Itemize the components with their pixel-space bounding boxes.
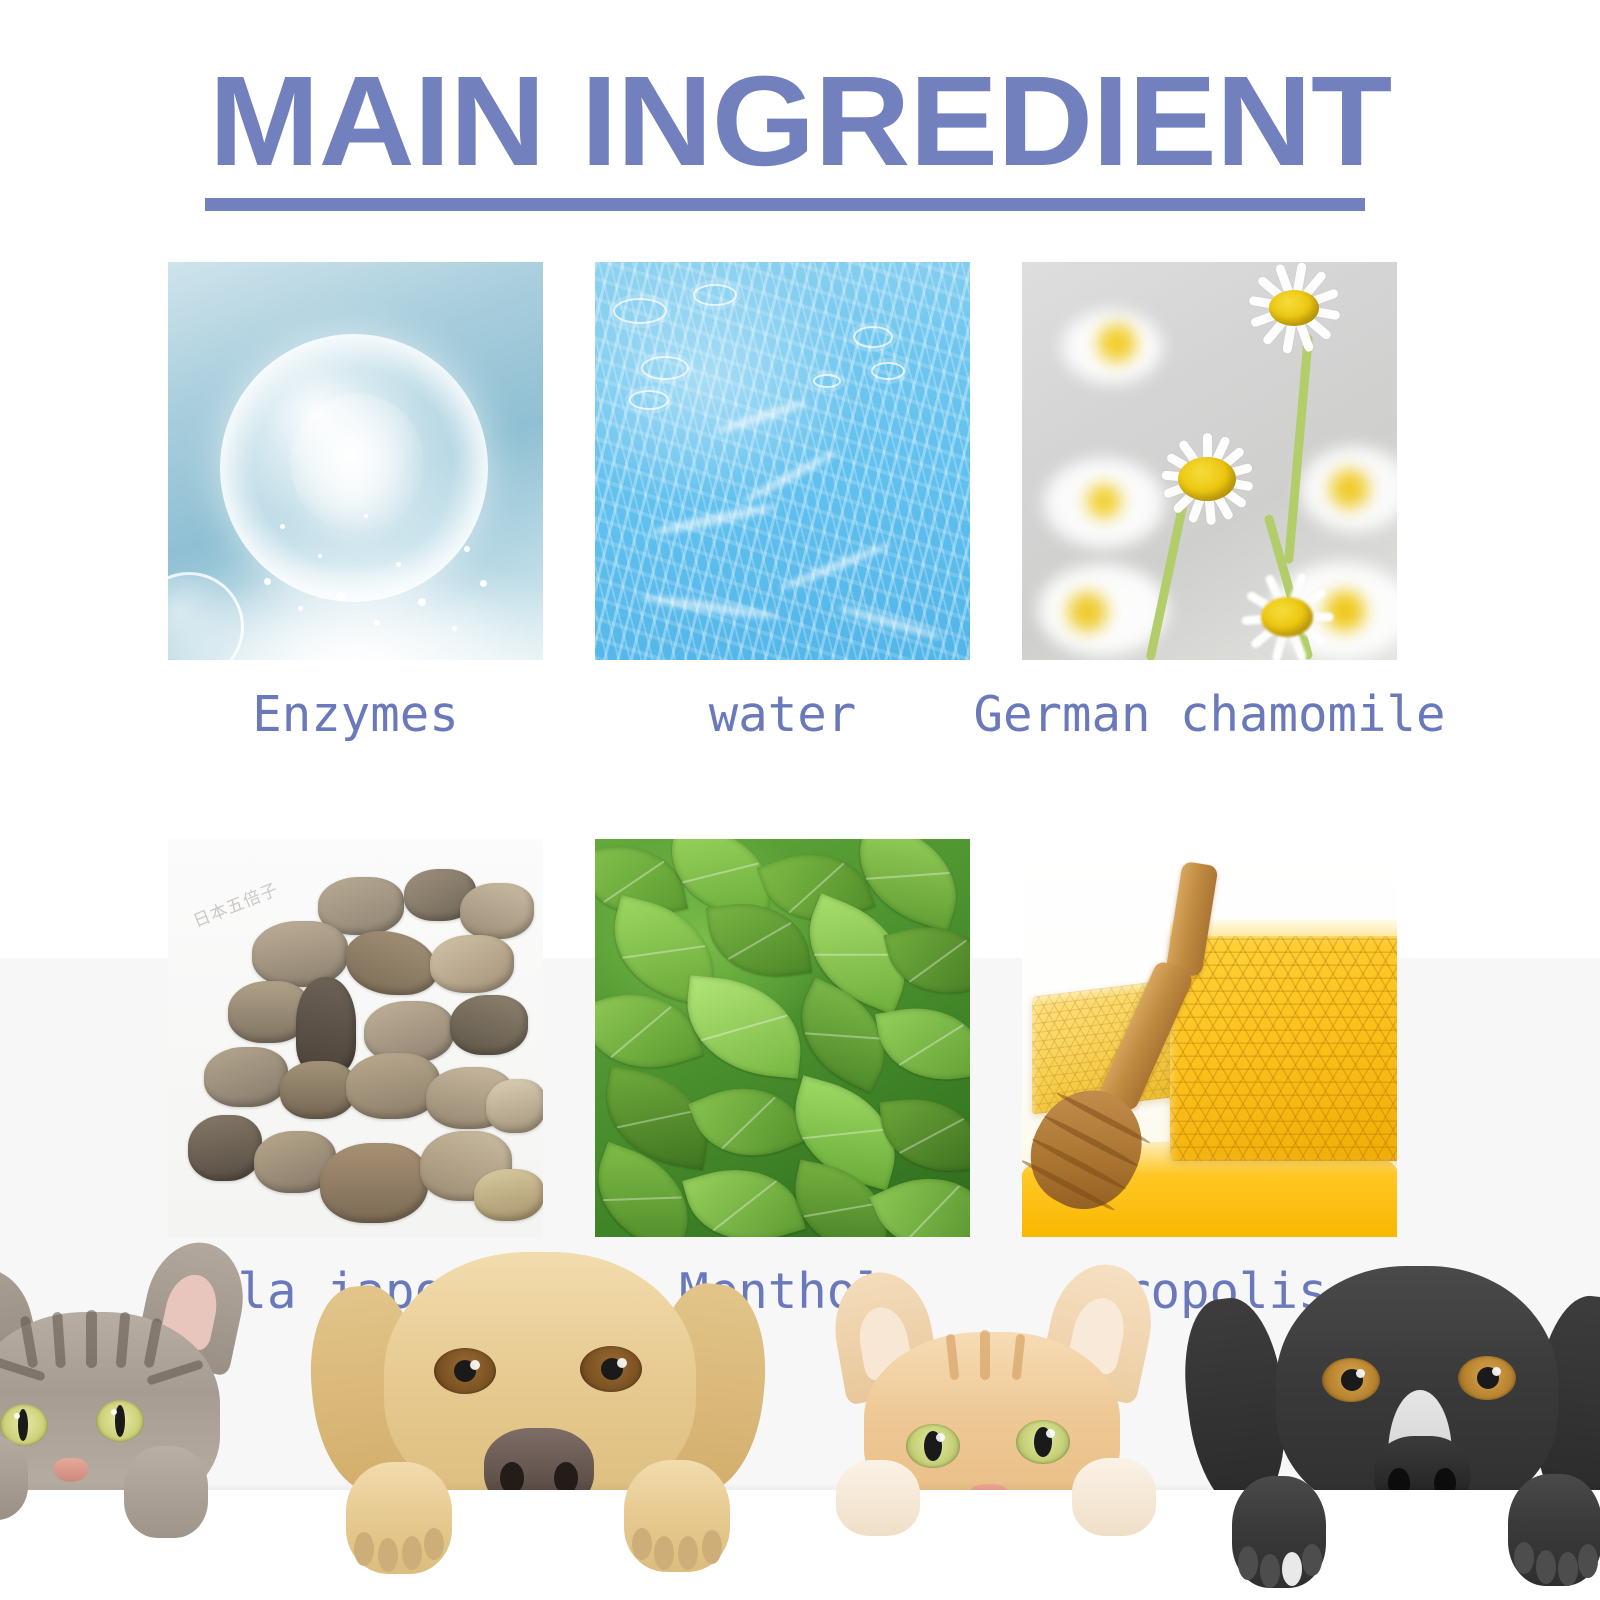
sparkle-dot [374, 620, 380, 626]
dog-paw-right [624, 1460, 730, 1572]
propolis-image [1022, 839, 1397, 1237]
pet-ginger-cat [826, 1262, 1160, 1514]
gall-piece [188, 1115, 262, 1181]
sparkle-dot [396, 562, 401, 567]
dog-paw-left [1232, 1476, 1326, 1588]
water-ripple [641, 356, 689, 380]
dog-eye-left [434, 1348, 496, 1394]
water-highlight [649, 501, 778, 539]
cat-paw-right [1072, 1458, 1156, 1536]
gall-piece [296, 977, 356, 1073]
water-ripple [693, 284, 737, 306]
gall-piece [474, 1169, 543, 1221]
page-title: MAIN INGREDIENT [0, 58, 1600, 186]
chamomile-flower [1232, 562, 1342, 660]
dog-eye-right [580, 1346, 642, 1392]
flower-center-disc [1269, 290, 1319, 326]
german-chamomile-image [1022, 262, 1397, 660]
gall-piece [346, 931, 438, 995]
mint-leaf [681, 975, 808, 1079]
water-ripple [871, 362, 905, 380]
sparkle-dot [280, 524, 285, 529]
page-title-container: MAIN INGREDIENT [0, 58, 1600, 186]
cat-eye-right [1016, 1420, 1070, 1464]
cat-eye-left [906, 1424, 960, 1468]
water-ripple [629, 390, 669, 410]
gall-piece [460, 883, 534, 939]
cat-paw-right [124, 1446, 208, 1538]
bubble-inner-core [290, 393, 424, 532]
flower-stem [1284, 334, 1313, 564]
sparkle-dot [480, 580, 487, 587]
water-highlight [739, 447, 840, 507]
dog-head [1276, 1266, 1558, 1518]
gall-piece [430, 935, 514, 993]
honeycomb-block [1170, 931, 1397, 1161]
ingredient-card-water[interactable]: water [595, 262, 970, 739]
water-highlight [778, 540, 893, 593]
dog-eye-left [1322, 1358, 1380, 1402]
bubble-sphere [220, 334, 488, 602]
water-ripple [613, 298, 667, 324]
sparkle-dot [336, 592, 345, 601]
water-ripple [853, 326, 893, 348]
ingredient-card-enzymes[interactable]: Enzymes [168, 262, 543, 739]
watermark-text: 日本五倍子 [189, 875, 282, 932]
cat-eye-right [96, 1400, 144, 1442]
blurred-flower [1300, 446, 1397, 532]
ingredient-label-water: water [595, 690, 970, 739]
sparkle-dot [264, 578, 271, 585]
sparkle-dot [364, 514, 368, 518]
gall-piece [252, 921, 348, 987]
flower-center-disc [1178, 457, 1236, 501]
gall-piece [346, 1053, 440, 1119]
gall-piece [204, 1047, 288, 1107]
ingredient-row-1: Enzymes water [168, 262, 1396, 739]
sparkle-dot [318, 554, 322, 558]
pet-grey-tabby-cat [0, 1250, 284, 1510]
water-highlight [639, 592, 779, 621]
ingredient-label-enzymes: Enzymes [168, 690, 543, 739]
flower-center-disc [1261, 597, 1313, 637]
white-shelf-band [0, 1490, 1600, 1600]
ingredient-label-chamomile: German chamomile [962, 690, 1457, 739]
chamomile-flower [1234, 262, 1354, 368]
menthol-image [595, 839, 970, 1237]
water-image [595, 262, 970, 660]
chamomile-flower [1142, 414, 1272, 544]
gall-piece [280, 1061, 356, 1119]
dog-paw-left [346, 1462, 452, 1574]
sparkle-dot [418, 598, 426, 606]
cat-paw-left [836, 1460, 920, 1536]
water-highlight [836, 603, 944, 642]
cat-nose [54, 1458, 88, 1482]
blurred-flower [1062, 310, 1162, 384]
galla-japonica-image: 日本五倍子 [168, 839, 543, 1237]
ingredient-card-chamomile[interactable]: German chamomile [1022, 262, 1397, 739]
water-highlight [714, 397, 808, 436]
gall-piece [320, 1143, 428, 1223]
pets-strip [0, 1236, 1600, 1600]
gall-piece [486, 1079, 543, 1133]
sparkle-dot [298, 606, 303, 611]
sparkle-dot [452, 626, 457, 631]
mint-leaf [875, 997, 970, 1091]
water-ripple [813, 374, 841, 388]
title-underline [205, 198, 1365, 211]
gall-piece [450, 995, 528, 1055]
sparkle-dot [464, 546, 470, 552]
ingredient-grid: Enzymes water [168, 262, 1396, 1316]
mint-leaf [688, 1067, 808, 1176]
enzymes-image [168, 262, 543, 660]
dog-eye-right [1458, 1356, 1516, 1400]
dog-paw-right [1508, 1474, 1600, 1586]
